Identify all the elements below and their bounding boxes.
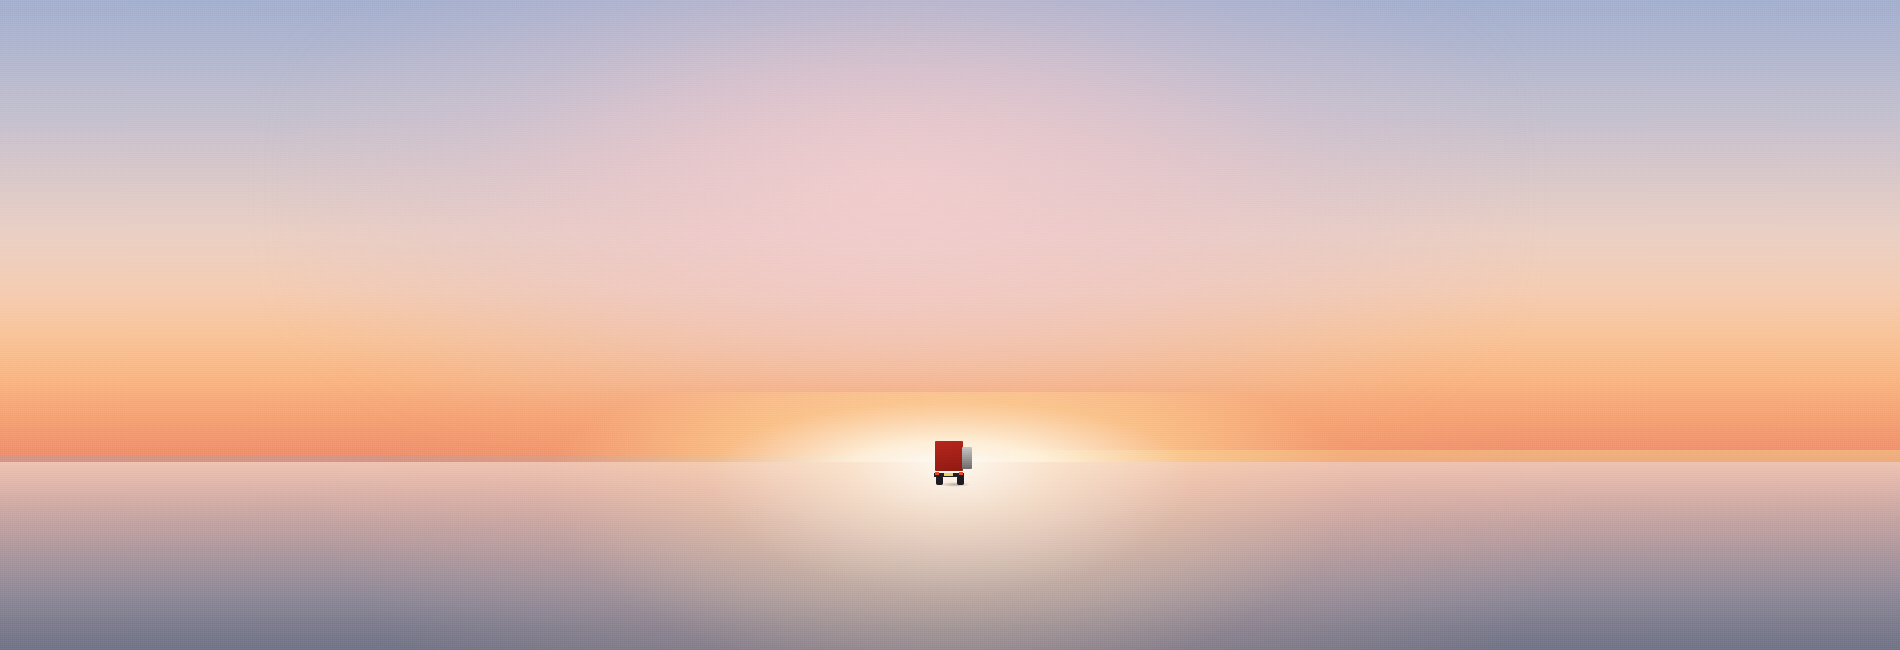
hero-banner (0, 0, 1900, 650)
banner-subtitle (0, 346, 1900, 390)
banner-copy (0, 0, 1900, 650)
